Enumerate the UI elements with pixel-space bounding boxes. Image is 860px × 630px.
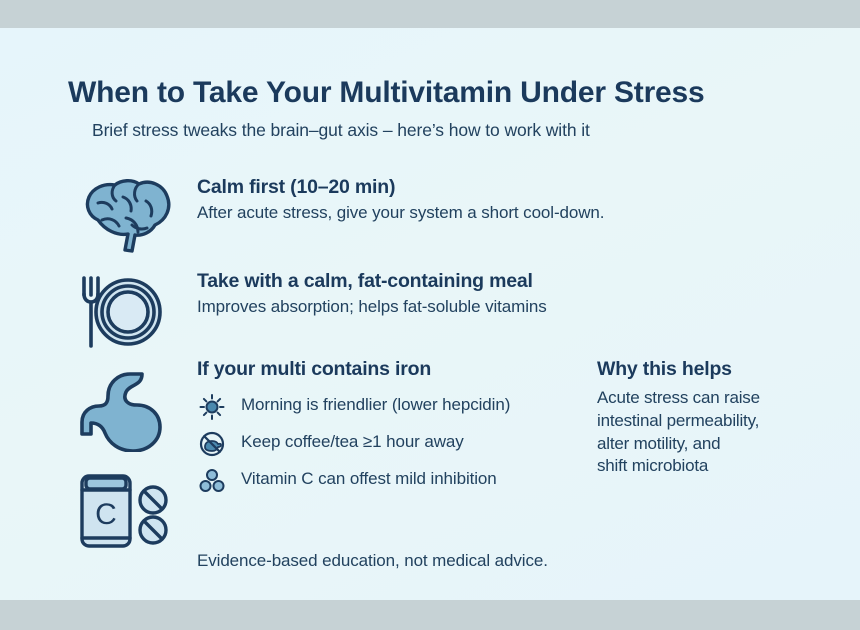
why-heading: Why this helps [597, 358, 827, 380]
why-line: shift microbiota [597, 455, 827, 478]
why-line: alter motility, and [597, 433, 827, 456]
molecule-icon [197, 467, 227, 495]
why-line: intestinal permeability, [597, 410, 827, 433]
tip-heading: Calm first (10–20 min) [197, 176, 817, 198]
tip-subtext: Improves absorption; helps fat-soluble v… [197, 296, 817, 318]
why-body: Acute stress can raise intestinal permea… [597, 387, 827, 477]
why-column: Why this helps Acute stress can raise in… [597, 358, 827, 478]
list-item: Morning is friendlier (lower hepcidin) [197, 391, 587, 428]
sun-icon [197, 393, 227, 421]
no-coffee-icon [197, 430, 227, 458]
iron-heading: If your multi contains iron [197, 358, 587, 380]
lower-columns: If your multi contains iron Morning is [0, 358, 860, 548]
infographic-card: When to Take Your Multivitamin Under Str… [0, 28, 860, 600]
top-frame-band [0, 0, 860, 28]
page-title: When to Take Your Multivitamin Under Str… [68, 76, 828, 110]
infographic-root: When to Take Your Multivitamin Under Str… [0, 0, 860, 630]
list-item: Vitamin C can offest mild inhibition [197, 465, 587, 502]
brain-icon [68, 176, 186, 260]
disclaimer-text: Evidence-based education, not medical ad… [197, 551, 817, 571]
page-subtitle: Brief stress tweaks the brain–gut axis –… [92, 120, 832, 141]
list-item: Keep coffee/tea ≥1 hour away [197, 428, 587, 465]
why-line: Acute stress can raise [597, 387, 827, 410]
plate-fork-icon [68, 270, 186, 354]
tip-subtext: After acute stress, give your system a s… [197, 202, 817, 224]
tip-heading: Take with a calm, fat-containing meal [197, 270, 817, 292]
list-item-label: Keep coffee/tea ≥1 hour away [241, 432, 464, 451]
tip-text-calm: Calm first (10–20 min) After acute stres… [197, 176, 817, 225]
list-item-label: Morning is friendlier (lower hepcidin) [241, 395, 510, 414]
iron-column: If your multi contains iron Morning is [197, 358, 587, 502]
tip-text-meal: Take with a calm, fat-containing meal Im… [197, 270, 817, 319]
bottom-frame-band [0, 600, 860, 630]
iron-bullet-list: Morning is friendlier (lower hepcidin) [197, 391, 587, 502]
list-item-label: Vitamin C can offest mild inhibition [241, 469, 497, 488]
